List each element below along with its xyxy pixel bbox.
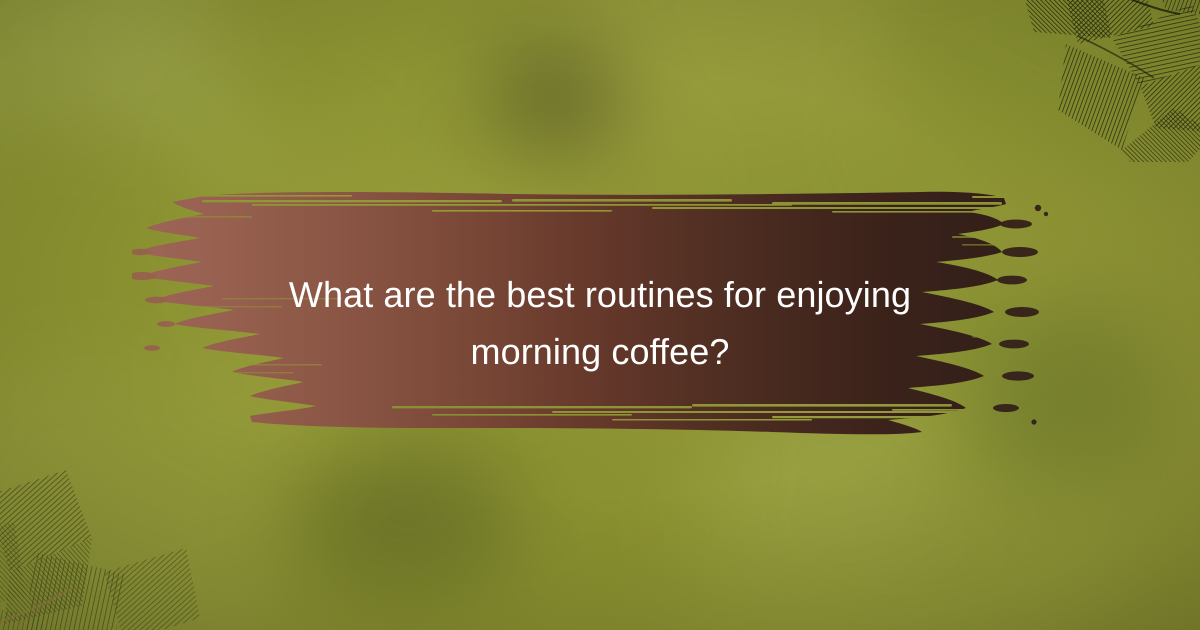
headline-line-2: morning coffee? [150,323,1050,380]
page-title: What are the best routines for enjoying … [150,266,1050,380]
quote-card: What are the best routines for enjoying … [0,0,1200,630]
headline-line-1: What are the best routines for enjoying [150,266,1050,323]
